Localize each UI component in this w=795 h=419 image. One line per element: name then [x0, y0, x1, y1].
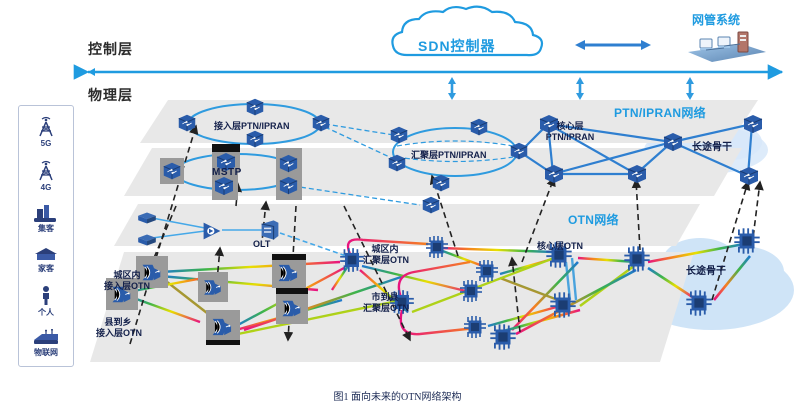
legend-label-enterprise: 集客	[38, 223, 54, 234]
otn-county-access-label-line1: 县到乡	[92, 317, 144, 327]
enterprise-building-icon	[31, 203, 61, 223]
control-plane-bus	[88, 68, 782, 76]
legend-label-iot: 物联网	[34, 347, 58, 358]
ptn-network-name: PTN/IPRAN网络	[614, 104, 706, 121]
otn-city-county-agg-label-line2: 汇聚层OTN	[352, 303, 420, 313]
otn-backbone-label: 长途骨干	[676, 266, 736, 278]
cell-tower-5g-icon	[33, 115, 59, 139]
control-physical-arrowheads	[448, 77, 694, 100]
person-icon	[35, 285, 57, 307]
cell-tower-4g-icon	[33, 159, 59, 183]
ptn-access-ring-label: 接入层PTN/IPRAN	[214, 119, 290, 132]
legend-item-enterprise: 集客	[31, 203, 61, 234]
legend-label-home: 家客	[38, 263, 54, 274]
sdn-controller-label: SDN控制器	[418, 36, 496, 56]
legend-label-person: 个人	[38, 307, 54, 318]
access-types-legend: 5G 4G 集客 家客 个人	[18, 105, 74, 367]
legend-item-iot: 物联网	[30, 329, 62, 358]
control-layer-label: 控制层	[88, 39, 133, 59]
legend-item-home: 家客	[31, 245, 61, 274]
iot-gateway-icon	[30, 329, 62, 347]
legend-label-5g: 5G	[41, 139, 52, 148]
otn-city-county-agg-label-line1: 市到县	[355, 292, 415, 302]
otn-urban-agg-label-line2: 汇聚层OTN	[352, 255, 420, 265]
network-management-servers-icon	[688, 32, 766, 62]
otn-urban-access-label-line1: 城区内	[98, 270, 156, 280]
physical-layer-label: 物理层	[88, 85, 133, 105]
nms-label: 网管系统	[692, 11, 740, 28]
otn-architecture-figure: 控制层 物理层 SDN控制器 网管系统 接入层PTN/IPRAN MSTP 汇聚…	[0, 0, 795, 419]
legend-item-4g: 4G	[33, 159, 59, 192]
sdn-nms-link-arrow	[575, 40, 651, 50]
legend-label-4g: 4G	[41, 183, 52, 192]
legend-item-5g: 5G	[33, 115, 59, 148]
otn-county-access-label-line2: 接入层OTN	[86, 328, 152, 338]
ptn-aggregation-ring-label: 汇聚层PTN/IPRAN	[411, 148, 487, 161]
mstp-label: MSTP	[212, 167, 242, 178]
legend-item-person: 个人	[35, 285, 57, 318]
control-physical-link-arrows	[452, 80, 690, 97]
ptn-core-label-line2: PTN/IPRAN	[530, 132, 610, 142]
diagram-canvas	[0, 0, 795, 419]
otn-network-name: OTN网络	[568, 211, 619, 228]
ptn-core-label-line1: 核心层	[535, 121, 605, 131]
olt-label: OLT	[253, 239, 270, 249]
home-house-icon	[31, 245, 61, 263]
otn-core-label: 核心层OTN	[525, 241, 595, 251]
figure-caption: 图1 面向未来的OTN网络架构	[0, 388, 795, 403]
ptn-backbone-label: 长途骨干	[682, 142, 742, 154]
otn-urban-access-label-line2: 接入层OTN	[92, 281, 162, 291]
otn-urban-agg-label-line1: 城区内	[355, 244, 415, 254]
